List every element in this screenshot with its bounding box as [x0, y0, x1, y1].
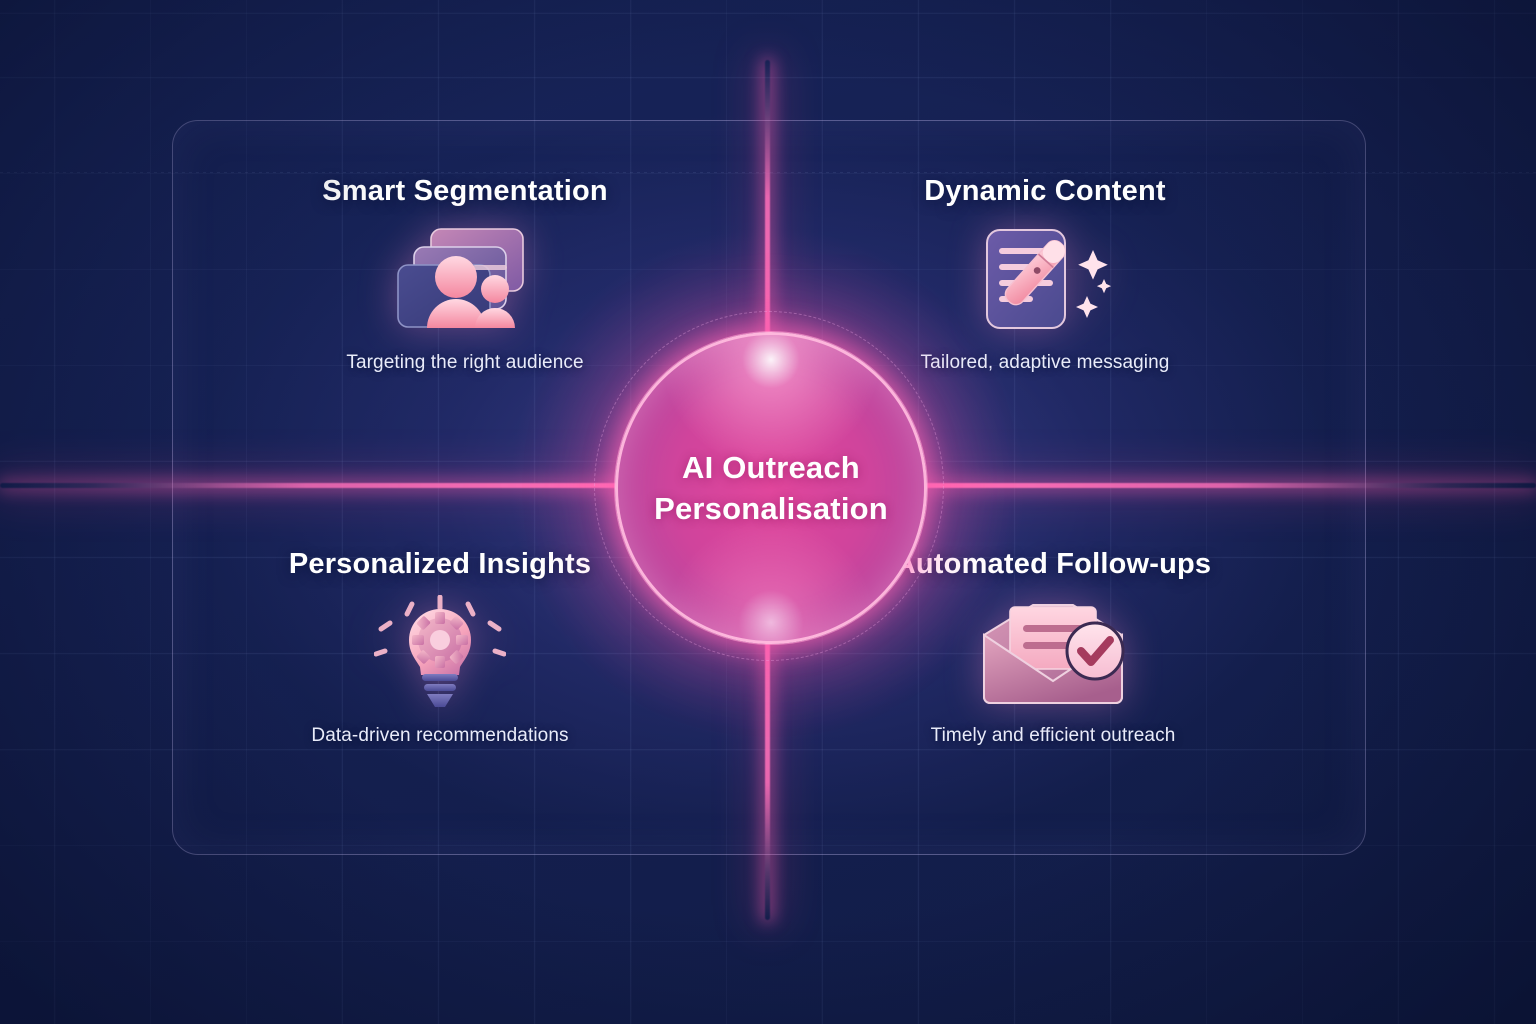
lightbulb-gear-icon [365, 595, 515, 711]
quadrant-title: Dynamic Content [924, 175, 1165, 208]
center-hub-label: AI Outreach Personalisation [640, 447, 902, 529]
quadrant-subtitle: Targeting the right audience [346, 352, 583, 374]
envelope-check-icon [978, 595, 1128, 711]
center-title-line-1: AI Outreach [654, 447, 888, 488]
quadrant-smart-segmentation[interactable]: Smart Segmentation [250, 175, 680, 374]
quadrant-personalized-insights[interactable]: Personalized Insights [225, 548, 655, 747]
quadrant-subtitle: Tailored, adaptive messaging [921, 352, 1170, 374]
quadrant-title: Personalized Insights [289, 548, 591, 581]
quadrant-title: Automated Follow-ups [895, 548, 1212, 581]
quadrant-subtitle: Data-driven recommendations [311, 725, 568, 747]
infographic-canvas: Smart Segmentation [0, 0, 1536, 1024]
document-magic-wand-icon [970, 222, 1120, 338]
audience-cards-icon [390, 222, 540, 338]
center-title-line-2: Personalisation [654, 488, 888, 529]
quadrant-automated-follow-ups[interactable]: Automated Follow-ups [838, 548, 1268, 747]
quadrant-subtitle: Timely and efficient outreach [931, 725, 1176, 747]
center-hub[interactable]: AI Outreach Personalisation [615, 332, 927, 644]
quadrant-title: Smart Segmentation [322, 175, 608, 208]
quadrant-dynamic-content[interactable]: Dynamic Content [830, 175, 1260, 374]
